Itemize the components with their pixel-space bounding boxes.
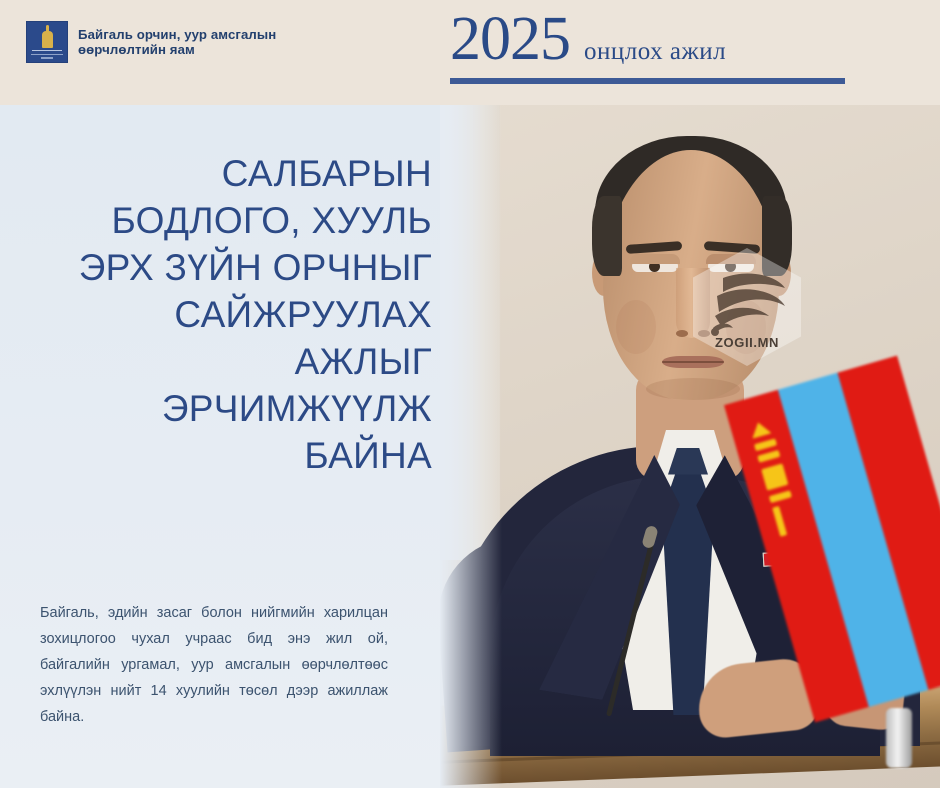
chin-shading [646,378,740,400]
organization-name: Байгаль орчин, уур амсгалын өөрчлөлтийн … [78,27,276,58]
year-label: 2025 [450,8,570,70]
title-line-4: САЙЖРУУЛАХ [60,291,432,338]
watermark-label: ZOGII.MN [693,335,801,350]
photo-left-blend [440,0,502,788]
nostril-left [676,330,688,337]
year-underline-rule [450,78,845,84]
zogii-globe-icon [707,262,789,338]
title-line-1: САЛБАРЫН [60,150,432,197]
title-line-2: БОДЛОГО, ХУУЛЬ [60,197,432,244]
official-portrait-photo [440,0,940,788]
header-band: Байгаль орчин, уур амсгалын өөрчлөлтийн … [0,0,940,105]
hair-temple-left [592,196,622,276]
title-line-5: АЖЛЫГ [60,338,432,385]
title-line-7: БАЙНА [60,432,432,479]
organization-brand: Байгаль орчин, уур амсгалын өөрчлөлтийн … [26,21,276,63]
cheek-left [616,300,656,354]
zogii-watermark: ZOGII.MN [693,248,801,366]
org-name-line-1: Байгаль орчин, уур амсгалын [78,27,276,42]
year-heading-group: 2025 онцлох ажил [450,8,850,84]
title-line-3: ЭРХ ЗҮЙН ОРЧНЫГ [60,244,432,291]
year-subtitle: онцлох ажил [584,39,726,64]
eyelid-left [630,254,680,264]
flag-stand [886,708,912,768]
ministry-emblem-icon [26,21,68,63]
org-name-line-2: өөрчлөлтийн яам [78,42,195,57]
page-title: САЛБАРЫН БОДЛОГО, ХУУЛЬ ЭРХ ЗҮЙН ОРЧНЫГ … [60,150,432,479]
body-paragraph: Байгаль, эдийн засаг болон нийгмийн хари… [40,600,388,730]
poster-canvas: САЛБАРЫН БОДЛОГО, ХУУЛЬ ЭРХ ЗҮЙН ОРЧНЫГ … [0,0,940,788]
title-line-6: ЭРЧИМЖҮҮЛЖ [60,385,432,432]
